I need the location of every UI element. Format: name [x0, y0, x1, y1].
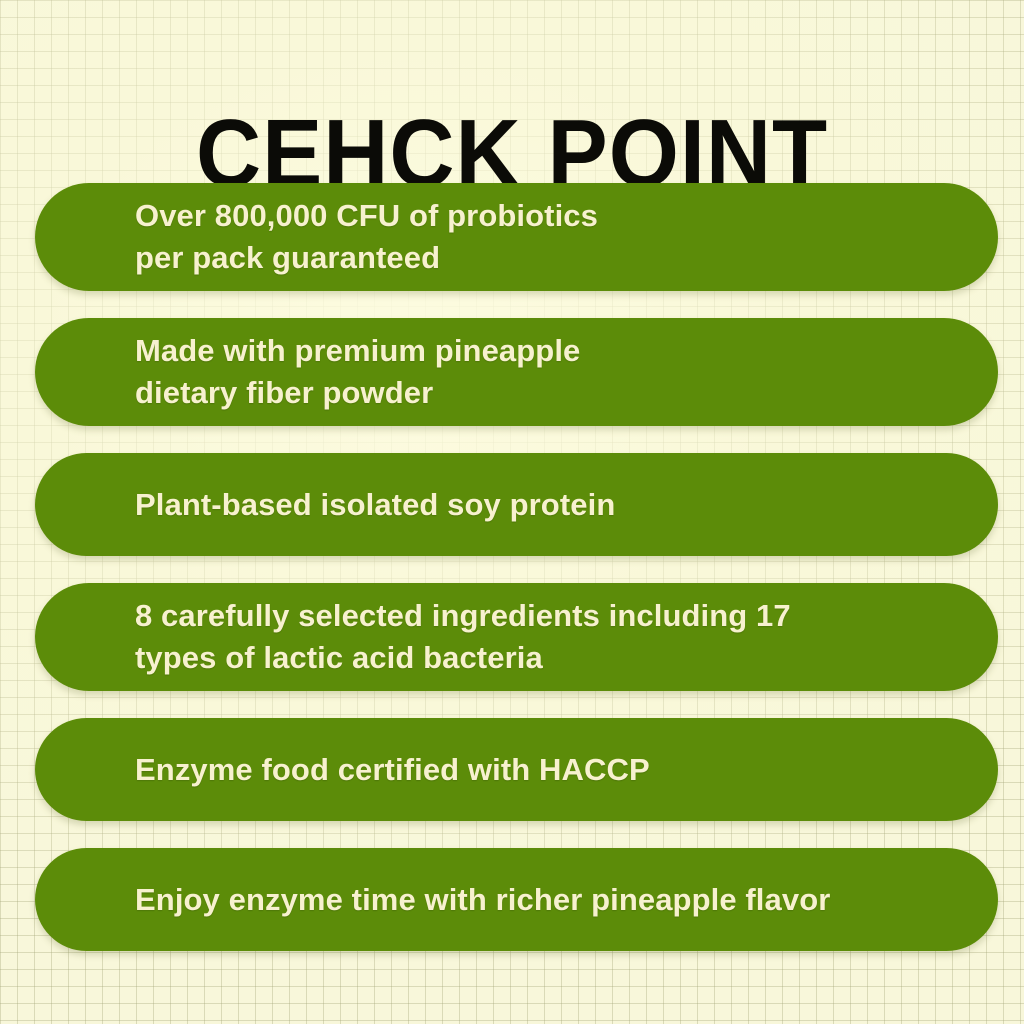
list-item: Over 800,000 CFU of probiotics per pack …	[35, 183, 998, 291]
list-item: Plant-based isolated soy protein	[35, 453, 998, 556]
list-item: Made with premium pineapple dietary fibe…	[35, 318, 998, 426]
list-item: Enzyme food certified with HACCP	[35, 718, 998, 821]
check-point-text: Enzyme food certified with HACCP	[135, 749, 650, 791]
poster-canvas: CEHCK POINT Over 800,000 CFU of probioti…	[0, 0, 1024, 1024]
check-point-list: Over 800,000 CFU of probiotics per pack …	[35, 183, 998, 978]
poster-content: CEHCK POINT Over 800,000 CFU of probioti…	[0, 0, 1024, 1024]
check-point-text: Made with premium pineapple dietary fibe…	[135, 330, 580, 414]
list-item: 8 carefully selected ingredients includi…	[35, 583, 998, 691]
check-point-text: Over 800,000 CFU of probiotics per pack …	[135, 195, 598, 279]
check-point-text: Plant-based isolated soy protein	[135, 484, 615, 526]
list-item: Enjoy enzyme time with richer pineapple …	[35, 848, 998, 951]
check-point-text: 8 carefully selected ingredients includi…	[135, 595, 791, 679]
check-point-text: Enjoy enzyme time with richer pineapple …	[135, 879, 830, 921]
